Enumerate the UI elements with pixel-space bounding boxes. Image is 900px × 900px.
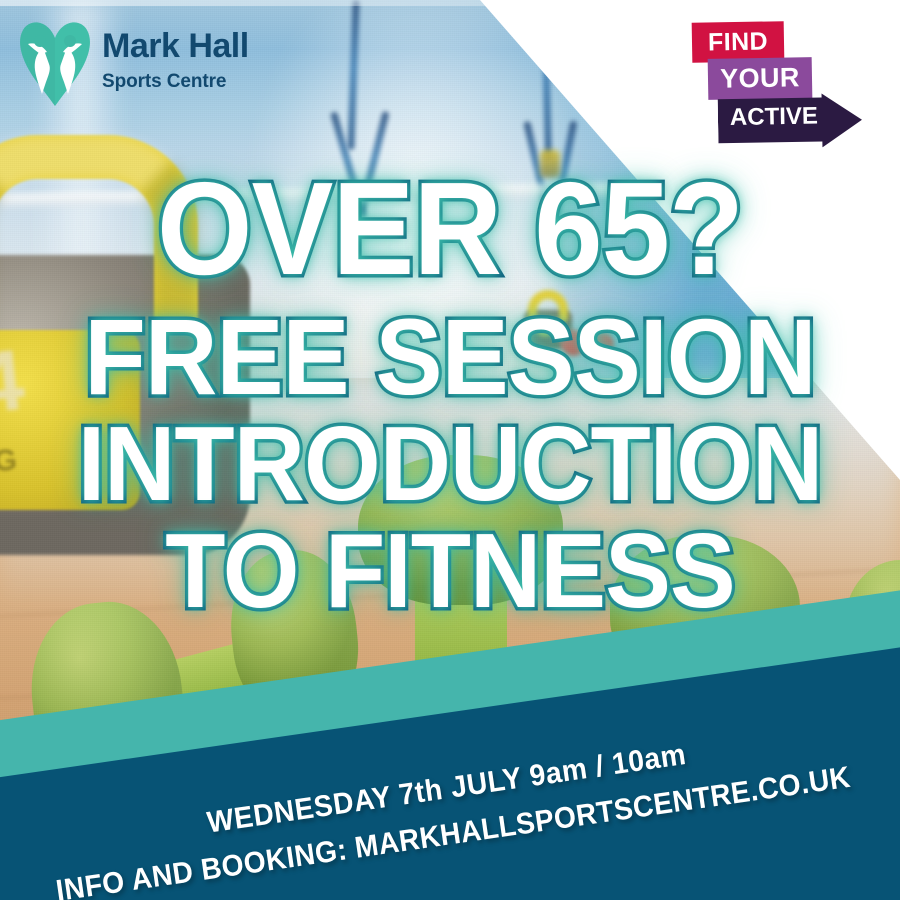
poster-canvas: 4 KG bbox=[0, 0, 900, 900]
headline-line-1: OVER 65? bbox=[32, 168, 869, 291]
headline-line-3: INTRODUCTION bbox=[32, 415, 869, 514]
fya-find-bar: FIND bbox=[692, 21, 785, 63]
brand-name: Mark Hall bbox=[102, 27, 249, 66]
fya-active-label: ACTIVE bbox=[726, 102, 822, 132]
brand-wordmark: Mark Hall Sports Centre bbox=[102, 27, 249, 93]
brand-subtitle: Sports Centre bbox=[102, 71, 249, 93]
top-light-strip bbox=[0, 0, 900, 6]
headline-line-4: TO FITNESS bbox=[32, 522, 869, 621]
mark-hall-logo[interactable]: Mark Hall Sports Centre bbox=[18, 14, 249, 106]
headline-block: OVER 65? FREE SESSION INTRODUCTION TO FI… bbox=[0, 168, 900, 620]
fya-active-bar: ACTIVE bbox=[718, 93, 863, 150]
two-figures-heart-icon bbox=[18, 14, 92, 106]
headline-line-2: FREE SESSION bbox=[32, 307, 869, 407]
find-your-active-logo[interactable]: FIND YOUR ACTIVE bbox=[684, 22, 862, 152]
